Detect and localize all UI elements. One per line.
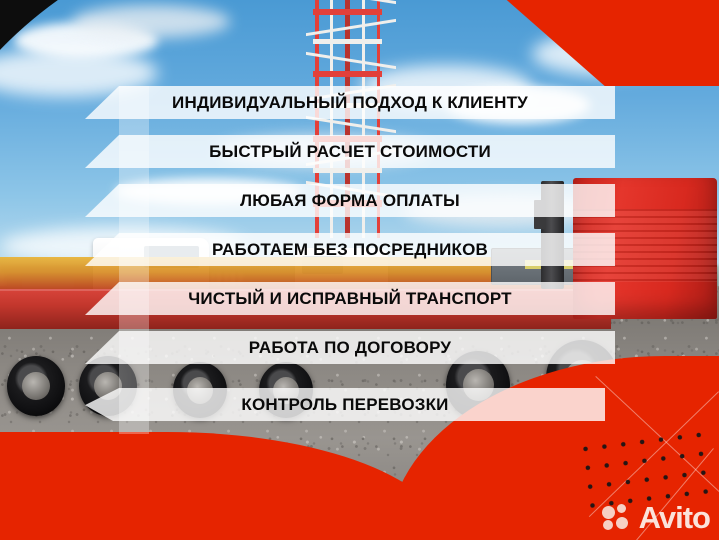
benefit-label: КОНТРОЛЬ ПЕРЕВОЗКИ: [241, 396, 448, 413]
avito-watermark: Avito: [602, 502, 710, 533]
benefit-banner-shipment-control: КОНТРОЛЬ ПЕРЕВОЗКИ: [85, 388, 605, 421]
benefit-banner-clean-transport: ЧИСТЫЙ И ИСПРАВНЫЙ ТРАНСПОРТ: [85, 282, 615, 315]
benefit-banner-any-payment: ЛЮБАЯ ФОРМА ОПЛАТЫ: [85, 184, 615, 217]
benefits-list: ИНДИВИДУАЛЬНЫЙ ПОДХОД К КЛИЕНТУ БЫСТРЫЙ …: [0, 0, 719, 540]
benefit-banner-contract-work: РАБОТА ПО ДОГОВОРУ: [85, 331, 615, 364]
benefit-banner-no-intermediaries: РАБОТАЕМ БЕЗ ПОСРЕДНИКОВ: [85, 233, 615, 266]
benefit-label: ЧИСТЫЙ И ИСПРАВНЫЙ ТРАНСПОРТ: [188, 290, 512, 307]
avito-wordmark: Avito: [639, 502, 710, 533]
benefit-label: БЫСТРЫЙ РАСЧЕТ СТОИМОСТИ: [209, 143, 491, 160]
advertisement-banner: ИНДИВИДУАЛЬНЫЙ ПОДХОД К КЛИЕНТУ БЫСТРЫЙ …: [0, 0, 719, 540]
benefit-label: РАБОТА ПО ДОГОВОРУ: [249, 339, 451, 356]
benefit-label: ЛЮБАЯ ФОРМА ОПЛАТЫ: [240, 192, 460, 209]
avito-dots-icon: [602, 504, 633, 531]
benefit-label: ИНДИВИДУАЛЬНЫЙ ПОДХОД К КЛИЕНТУ: [172, 94, 528, 111]
benefit-banner-fast-quote: БЫСТРЫЙ РАСЧЕТ СТОИМОСТИ: [85, 135, 615, 168]
benefit-label: РАБОТАЕМ БЕЗ ПОСРЕДНИКОВ: [212, 241, 488, 258]
benefit-banner-individual-approach: ИНДИВИДУАЛЬНЫЙ ПОДХОД К КЛИЕНТУ: [85, 86, 615, 119]
